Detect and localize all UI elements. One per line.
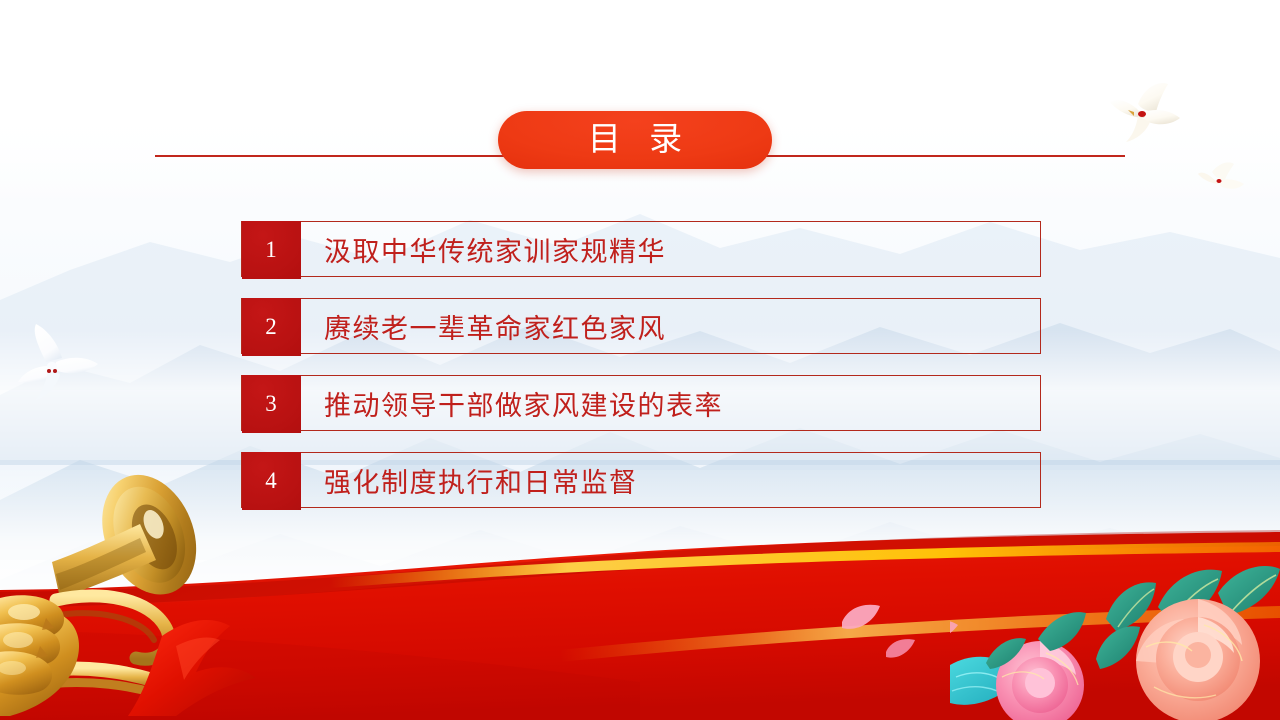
petal-icon bbox=[840, 600, 884, 634]
haze-overlay-top bbox=[0, 0, 1280, 210]
presentation-slide: 目 录 1 汲取中华传统家训家规精华 2 赓续老一辈革命家红色家风 3 推动领导… bbox=[0, 0, 1280, 720]
table-of-contents: 1 汲取中华传统家训家规精华 2 赓续老一辈革命家红色家风 3 推动领导干部做家… bbox=[241, 221, 1041, 529]
toc-number-badge: 3 bbox=[242, 375, 301, 433]
page-title-pill: 目 录 bbox=[498, 111, 772, 169]
page-title: 目 录 bbox=[578, 124, 692, 157]
toc-number: 2 bbox=[265, 315, 277, 338]
peony-flower-icon bbox=[950, 535, 1280, 720]
toc-number: 1 bbox=[265, 238, 277, 261]
toc-label: 汲取中华传统家训家规精华 bbox=[324, 222, 666, 276]
toc-item-4[interactable]: 4 强化制度执行和日常监督 bbox=[241, 452, 1041, 508]
toc-number: 4 bbox=[265, 469, 277, 492]
dove-icon bbox=[1198, 158, 1254, 198]
toc-label: 赓续老一辈革命家红色家风 bbox=[324, 299, 666, 353]
toc-number: 3 bbox=[265, 392, 277, 415]
toc-number-badge: 1 bbox=[242, 221, 301, 279]
dove-icon bbox=[1108, 78, 1200, 150]
toc-number-badge: 2 bbox=[242, 298, 301, 356]
toc-item-2[interactable]: 2 赓续老一辈革命家红色家风 bbox=[241, 298, 1041, 354]
toc-label: 强化制度执行和日常监督 bbox=[324, 453, 638, 507]
toc-item-1[interactable]: 1 汲取中华传统家训家规精华 bbox=[241, 221, 1041, 277]
toc-item-3[interactable]: 3 推动领导干部做家风建设的表率 bbox=[241, 375, 1041, 431]
dove-icon bbox=[12, 322, 104, 410]
petal-icon bbox=[884, 636, 918, 662]
toc-number-badge: 4 bbox=[242, 452, 301, 510]
toc-label: 推动领导干部做家风建设的表率 bbox=[324, 376, 723, 430]
bugle-icon bbox=[0, 440, 280, 720]
red-silk-ribbon bbox=[0, 530, 1280, 720]
